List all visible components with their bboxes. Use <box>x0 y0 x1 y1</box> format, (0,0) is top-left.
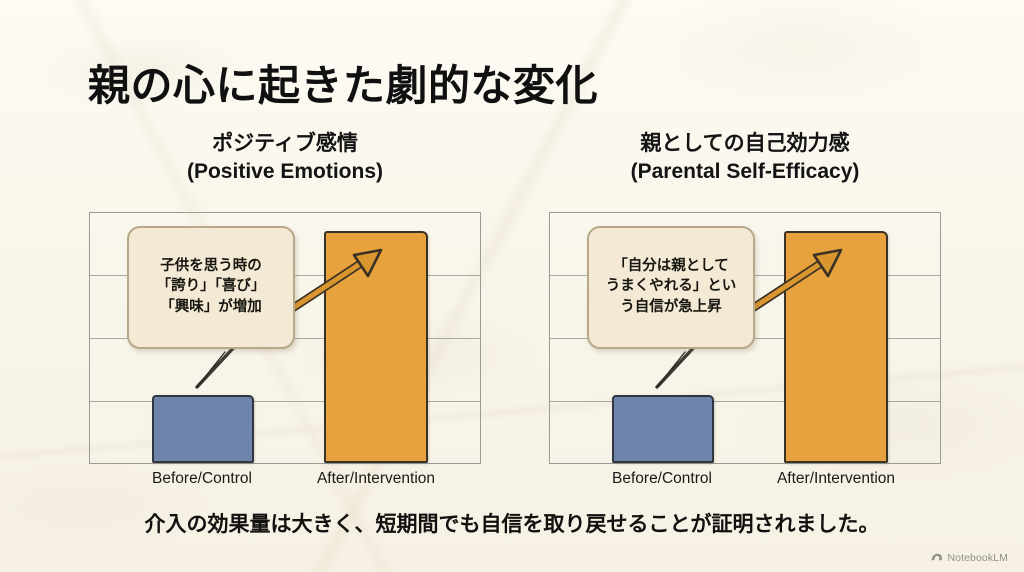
x-tick-before: Before/Control <box>589 470 735 488</box>
chart-panel-parental-self-efficacy: 親としての自己効力感 (Parental Self-Efficacy) Befo… <box>545 130 945 490</box>
callout-text: 子供を思う時の 「誇り」「喜び」 「興味」が増加 <box>135 256 287 318</box>
x-axis-labels: Before/Control After/Intervention <box>89 470 481 494</box>
page-title: 親の心に起きた劇的な変化 <box>88 52 598 113</box>
bar-before-control[interactable] <box>612 395 714 463</box>
slide-canvas: 親の心に起きた劇的な変化 ポジティブ感情 (Positive Emotions)… <box>0 0 1024 572</box>
x-tick-before: Before/Control <box>129 470 275 488</box>
x-tick-after: After/Intervention <box>757 470 915 488</box>
bar-before-control[interactable] <box>152 395 254 463</box>
callout-bubble: 子供を思う時の 「誇り」「喜び」 「興味」が増加 <box>127 226 295 349</box>
chart-panel-positive-emotions: ポジティブ感情 (Positive Emotions) Before/Contr… <box>85 130 485 490</box>
slide-caption: 介入の効果量は大きく、短期間でも自信を取り戻せることが証明されました。 <box>0 508 1024 538</box>
chart-title: ポジティブ感情 (Positive Emotions) <box>85 130 485 185</box>
bar-after-intervention[interactable] <box>324 231 428 463</box>
x-axis-labels: Before/Control After/Intervention <box>549 470 941 494</box>
x-tick-after: After/Intervention <box>297 470 455 488</box>
chart-title: 親としての自己効力感 (Parental Self-Efficacy) <box>545 130 945 185</box>
callout-bubble: 「自分は親として うまくやれる」とい う自信が急上昇 <box>587 226 755 349</box>
watermark-label: NotebookLM <box>947 552 1008 564</box>
watermark: NotebookLM <box>930 551 1008 564</box>
callout-text: 「自分は親として うまくやれる」とい う自信が急上昇 <box>595 256 747 318</box>
notebooklm-icon <box>930 551 943 564</box>
bar-after-intervention[interactable] <box>784 231 888 463</box>
